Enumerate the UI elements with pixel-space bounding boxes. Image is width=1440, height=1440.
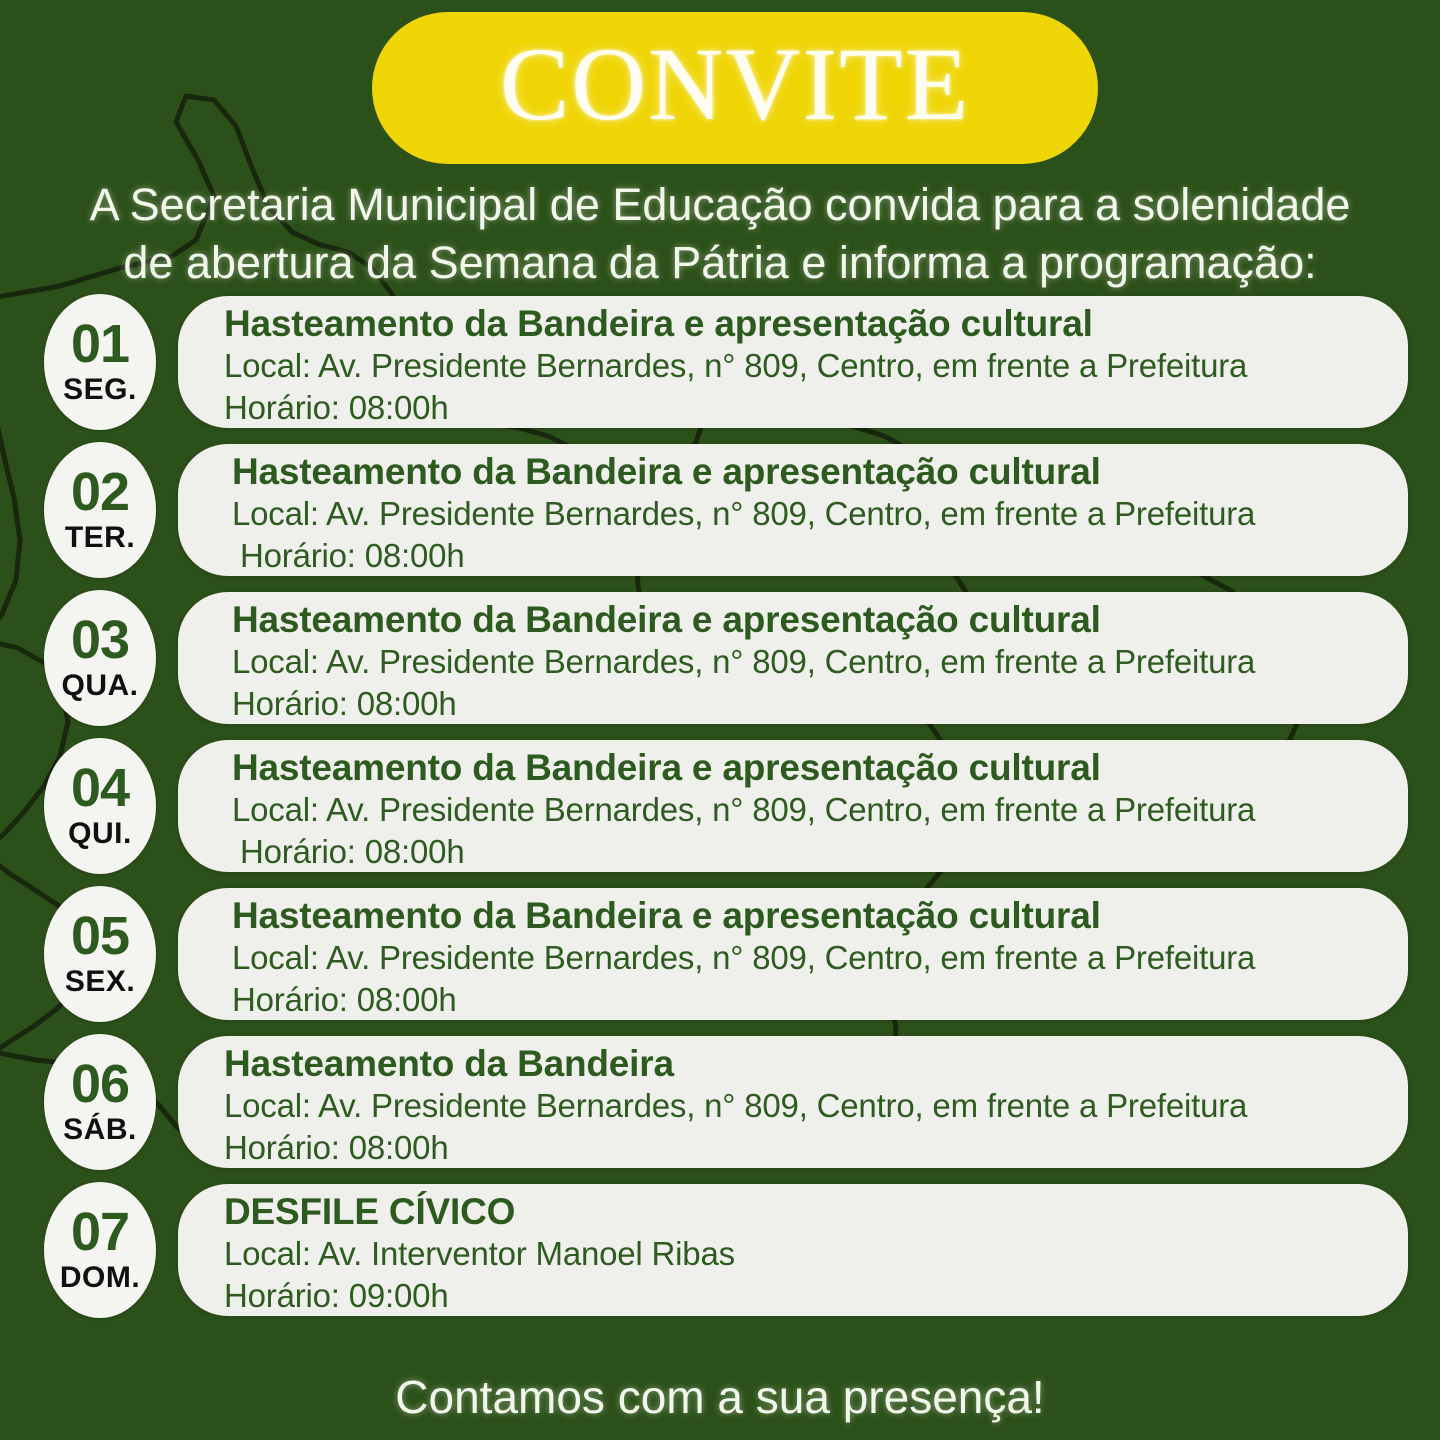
invitation-poster: CONVITE A Secretaria Municipal de Educaç… — [0, 0, 1440, 1440]
schedule-row: 01 SEG. Hasteamento da Bandeira e aprese… — [0, 296, 1440, 428]
event-location: Local: Av. Presidente Bernardes, n° 809,… — [232, 493, 1408, 535]
day-number: 04 — [71, 763, 129, 814]
event-time: Horário: 08:00h — [232, 831, 1408, 873]
weekday-label: TER. — [65, 523, 135, 553]
event-card: Hasteamento da Bandeira Local: Av. Presi… — [178, 1036, 1408, 1168]
day-number: 05 — [71, 911, 129, 962]
event-location: Local: Av. Presidente Bernardes, n° 809,… — [224, 345, 1408, 387]
weekday-label: SEG. — [63, 375, 137, 405]
day-badge: 06 SÁB. — [44, 1034, 156, 1170]
event-time: Horário: 09:00h — [224, 1275, 1408, 1317]
weekday-label: SEX. — [65, 967, 135, 997]
schedule-row: 03 QUA. Hasteamento da Bandeira e aprese… — [0, 592, 1440, 724]
intro-line-1: A Secretaria Municipal de Educação convi… — [0, 176, 1440, 234]
event-title: Hasteamento da Bandeira e apresentação c… — [232, 894, 1408, 937]
event-title: Hasteamento da Bandeira e apresentação c… — [232, 746, 1408, 789]
event-time: Horário: 08:00h — [232, 535, 1408, 577]
event-time: Horário: 08:00h — [232, 683, 1408, 725]
event-title: Hasteamento da Bandeira e apresentação c… — [232, 598, 1408, 641]
day-badge: 02 TER. — [44, 442, 156, 578]
event-title: Hasteamento da Bandeira e apresentação c… — [224, 302, 1408, 345]
weekday-label: QUA. — [62, 671, 139, 701]
event-card: Hasteamento da Bandeira e apresentação c… — [178, 740, 1408, 872]
day-number: 01 — [71, 319, 129, 370]
event-title: Hasteamento da Bandeira e apresentação c… — [232, 450, 1408, 493]
day-number: 03 — [71, 615, 129, 666]
event-card: Hasteamento da Bandeira e apresentação c… — [178, 444, 1408, 576]
weekday-label: SÁB. — [63, 1115, 137, 1145]
day-badge: 05 SEX. — [44, 886, 156, 1022]
event-card: Hasteamento da Bandeira e apresentação c… — [178, 888, 1408, 1020]
event-location: Local: Av. Presidente Bernardes, n° 809,… — [224, 1085, 1408, 1127]
intro-line-2: de abertura da Semana da Pátria e inform… — [0, 234, 1440, 292]
event-location: Local: Av. Presidente Bernardes, n° 809,… — [232, 937, 1408, 979]
day-number: 02 — [71, 467, 129, 518]
footer-text: Contamos com a sua presença! — [0, 1370, 1440, 1424]
title-pill: CONVITE — [372, 12, 1098, 164]
event-location: Local: Av. Presidente Bernardes, n° 809,… — [232, 789, 1408, 831]
event-time: Horário: 08:00h — [232, 979, 1408, 1021]
event-title: DESFILE CÍVICO — [224, 1190, 1408, 1233]
day-badge: 04 QUI. — [44, 738, 156, 874]
event-time: Horário: 08:00h — [224, 1127, 1408, 1169]
schedule-row: 02 TER. Hasteamento da Bandeira e aprese… — [0, 444, 1440, 576]
event-title: Hasteamento da Bandeira — [224, 1042, 1408, 1085]
event-time: Horário: 08:00h — [224, 387, 1408, 429]
event-location: Local: Av. Presidente Bernardes, n° 809,… — [232, 641, 1408, 683]
weekday-label: DOM. — [60, 1263, 140, 1293]
day-badge: 03 QUA. — [44, 590, 156, 726]
page-title: CONVITE — [500, 33, 970, 143]
intro-text: A Secretaria Municipal de Educação convi… — [0, 176, 1440, 292]
day-number: 07 — [71, 1207, 129, 1258]
schedule-row: 04 QUI. Hasteamento da Bandeira e aprese… — [0, 740, 1440, 872]
event-card: DESFILE CÍVICO Local: Av. Interventor Ma… — [178, 1184, 1408, 1316]
event-location: Local: Av. Interventor Manoel Ribas — [224, 1233, 1408, 1275]
day-badge: 07 DOM. — [44, 1182, 156, 1318]
event-card: Hasteamento da Bandeira e apresentação c… — [178, 592, 1408, 724]
schedule-row: 05 SEX. Hasteamento da Bandeira e aprese… — [0, 888, 1440, 1020]
day-badge: 01 SEG. — [44, 294, 156, 430]
weekday-label: QUI. — [68, 819, 132, 849]
schedule-list: 01 SEG. Hasteamento da Bandeira e aprese… — [0, 296, 1440, 1316]
schedule-row: 07 DOM. DESFILE CÍVICO Local: Av. Interv… — [0, 1184, 1440, 1316]
day-number: 06 — [71, 1059, 129, 1110]
schedule-row: 06 SÁB. Hasteamento da Bandeira Local: A… — [0, 1036, 1440, 1168]
event-card: Hasteamento da Bandeira e apresentação c… — [178, 296, 1408, 428]
